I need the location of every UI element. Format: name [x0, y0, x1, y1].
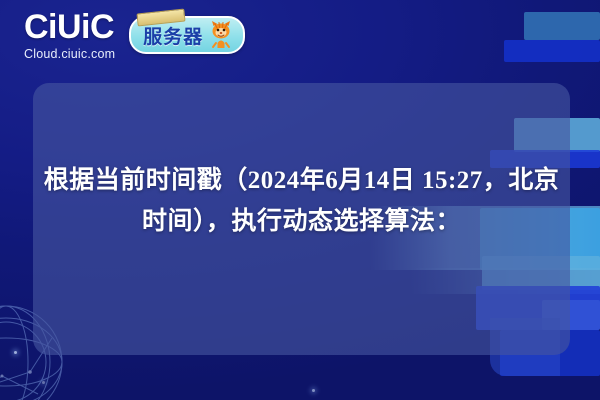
spark-dot-1: [14, 351, 17, 354]
accent-bar-1: [524, 12, 600, 40]
headline-message: 根据当前时间戳（2024年6月14日 15:27，北京时间），执行动态选择算法：: [33, 160, 570, 241]
server-badge: 服务器: [129, 16, 245, 54]
brand-logo[interactable]: CiUiC Cloud.ciuic.com: [24, 10, 115, 61]
server-badge-label: 服务器: [143, 22, 203, 49]
header: CiUiC Cloud.ciuic.com 服务器: [24, 10, 245, 61]
message-prefix: 根据当前时间戳（: [44, 166, 248, 194]
accent-bar-2: [504, 40, 600, 62]
spark-dot-2: [42, 381, 45, 384]
tiger-mascot-icon: [208, 21, 234, 49]
banner-stage: CiUiC Cloud.ciuic.com 服务器 根据当前时: [0, 0, 600, 400]
brand-wordmark: CiUiC: [24, 10, 115, 44]
brand-domain: Cloud.ciuic.com: [24, 48, 115, 61]
spark-dot-3: [312, 389, 315, 392]
message-timestamp: 2024年6月14日 15:27: [248, 167, 483, 194]
